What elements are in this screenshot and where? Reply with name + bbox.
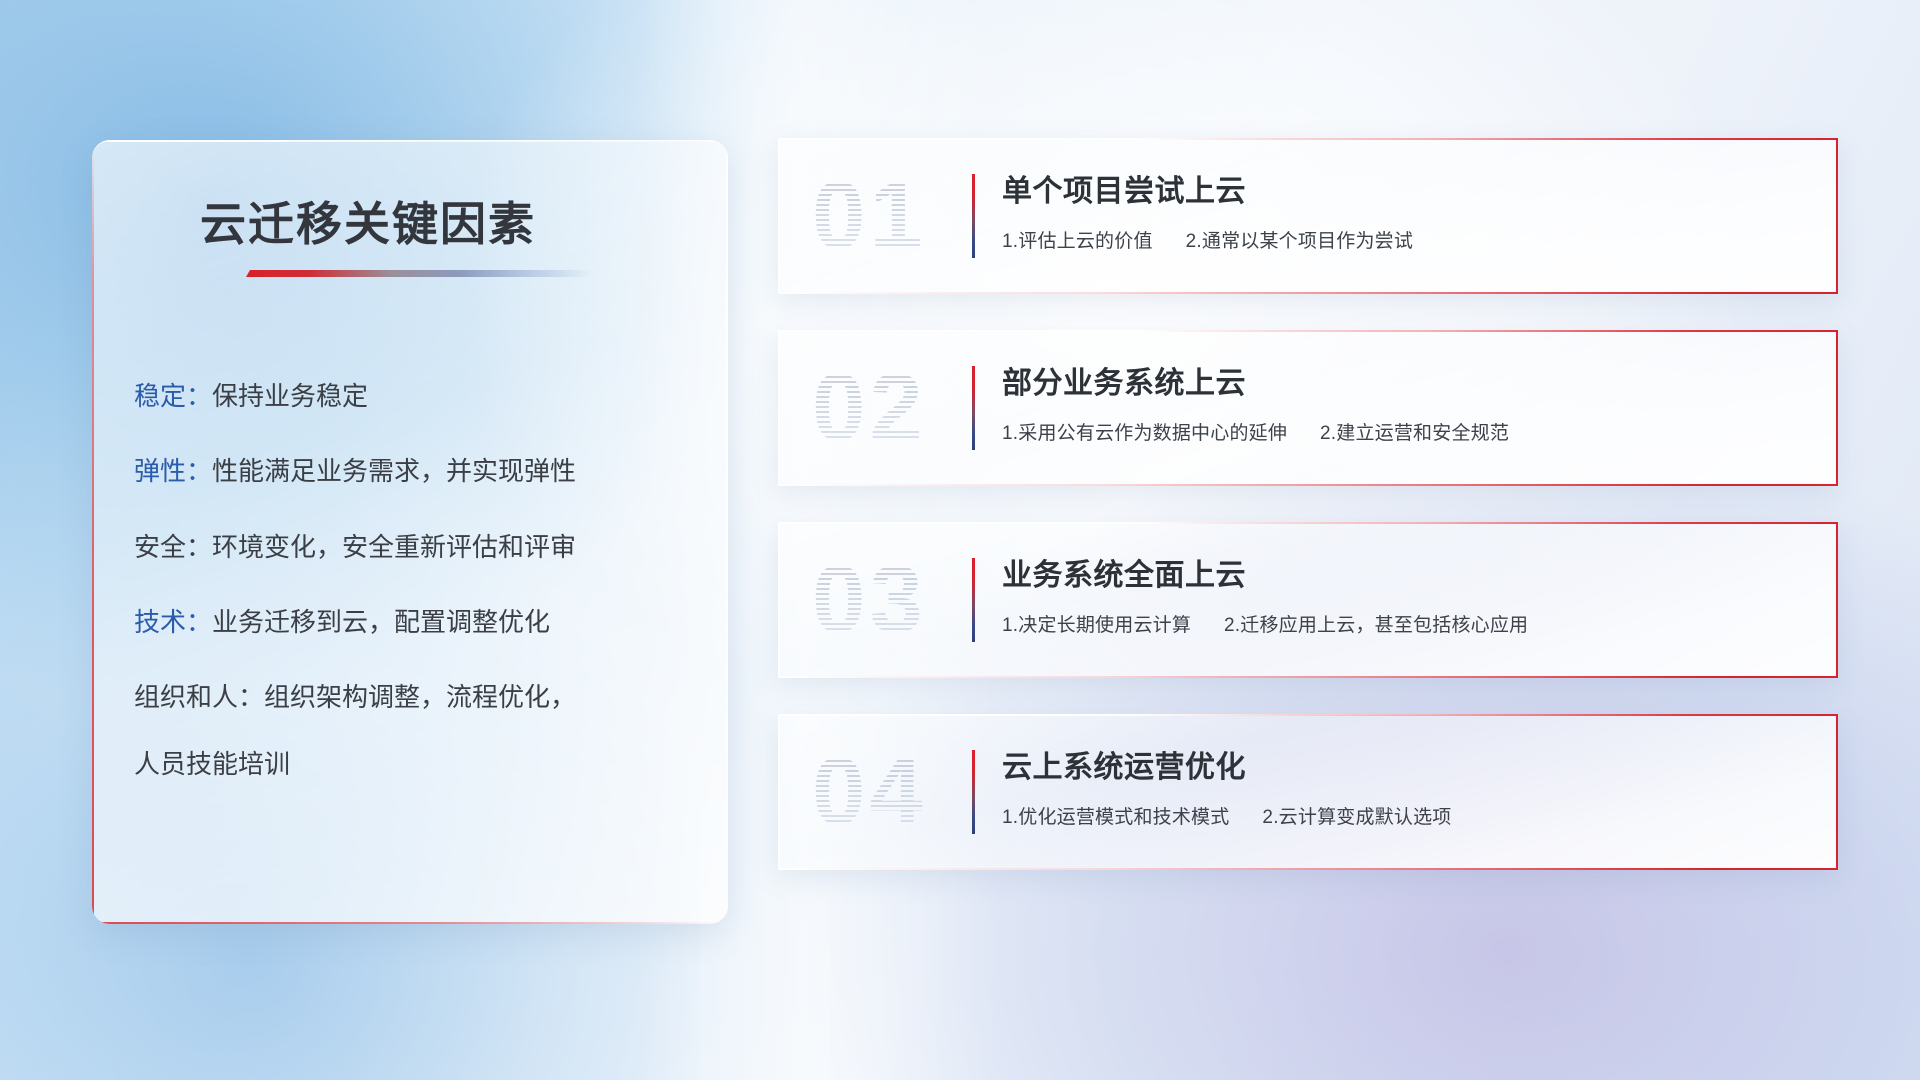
stage-title: 单个项目尝试上云 bbox=[1002, 166, 1798, 210]
stage-title: 部分业务系统上云 bbox=[1002, 358, 1798, 402]
card-top-edge bbox=[778, 522, 1838, 524]
factor-text: 性能满足业务需求，并实现弹性 bbox=[212, 455, 576, 488]
stage-point-2: 2.通常以某个项目作为尝试 bbox=[1186, 231, 1413, 252]
stage-description: 1.决定长期使用云计算 2.迁移应用上云，甚至包括核心应用 bbox=[1002, 610, 1798, 637]
factor-label: 技术： bbox=[134, 606, 212, 639]
stage-description: 1.采用公有云作为数据中心的延伸 2.建立运营和安全规范 bbox=[1002, 418, 1798, 445]
stage-number: 02 bbox=[812, 346, 982, 470]
card-left-edge bbox=[778, 714, 780, 870]
stage-point-1: 1.决定长期使用云计算 bbox=[1002, 615, 1191, 636]
card-body: 业务系统全面上云 1.决定长期使用云计算 2.迁移应用上云，甚至包括核心应用 bbox=[1002, 550, 1798, 637]
stage-number: 03 bbox=[812, 538, 982, 662]
factor-text: 保持业务稳定 bbox=[212, 380, 368, 413]
card-top-edge bbox=[778, 330, 1838, 332]
card-body: 云上系统运营优化 1.优化运营模式和技术模式 2.云计算变成默认选项 bbox=[1002, 742, 1798, 829]
card-left-edge bbox=[778, 138, 780, 294]
stage-title: 业务系统全面上云 bbox=[1002, 550, 1798, 594]
page-title: 云迁移关键因素 bbox=[200, 188, 536, 254]
card-left-edge bbox=[778, 330, 780, 486]
factor-text: 环境变化，安全重新评估和评审 bbox=[212, 531, 576, 564]
factor-text: 组织架构调整，流程优化， bbox=[264, 681, 576, 714]
factor-label: 组织和人： bbox=[134, 681, 264, 714]
card-bottom-edge bbox=[778, 484, 1838, 486]
stage-description: 1.评估上云的价值 2.通常以某个项目作为尝试 bbox=[1002, 226, 1798, 253]
factor-item-technology: 技术： 业务迁移到云，配置调整优化 bbox=[134, 606, 694, 639]
stage-card-04[interactable]: 04 云上系统运营优化 1.优化运营模式和技术模式 2.云计算变成默认选项 bbox=[778, 714, 1838, 870]
factor-continuation-text: 人员技能培训 bbox=[134, 744, 694, 781]
card-bottom-edge bbox=[778, 676, 1838, 678]
factor-label: 弹性： bbox=[134, 455, 212, 488]
title-underline-rule bbox=[246, 270, 592, 277]
stage-point-2: 2.云计算变成默认选项 bbox=[1262, 807, 1451, 828]
stage-number: 01 bbox=[812, 154, 982, 278]
card-body: 单个项目尝试上云 1.评估上云的价值 2.通常以某个项目作为尝试 bbox=[1002, 166, 1798, 253]
card-divider-bar bbox=[972, 558, 975, 642]
factor-label: 稳定： bbox=[134, 380, 212, 413]
factor-text: 业务迁移到云，配置调整优化 bbox=[212, 606, 550, 639]
stage-card-01[interactable]: 01 单个项目尝试上云 1.评估上云的价值 2.通常以某个项目作为尝试 bbox=[778, 138, 1838, 294]
panel-right-edge bbox=[726, 140, 728, 924]
card-bottom-edge bbox=[778, 868, 1838, 870]
key-factors-panel: 云迁移关键因素 稳定： 保持业务稳定 弹性： 性能满足业务需求，并实现弹性 安全… bbox=[92, 140, 728, 924]
stage-point-1: 1.采用公有云作为数据中心的延伸 bbox=[1002, 423, 1287, 444]
factor-item-security: 安全： 环境变化，安全重新评估和评审 bbox=[134, 531, 694, 564]
stage-point-2: 2.建立运营和安全规范 bbox=[1320, 423, 1509, 444]
card-right-edge bbox=[1836, 522, 1838, 678]
stage-point-1: 1.评估上云的价值 bbox=[1002, 231, 1153, 252]
stage-point-2: 2.迁移应用上云，甚至包括核心应用 bbox=[1224, 615, 1528, 636]
card-top-edge bbox=[778, 714, 1838, 716]
card-bottom-edge bbox=[778, 292, 1838, 294]
card-divider-bar bbox=[972, 750, 975, 834]
card-right-edge bbox=[1836, 714, 1838, 870]
stage-card-03[interactable]: 03 业务系统全面上云 1.决定长期使用云计算 2.迁移应用上云，甚至包括核心应… bbox=[778, 522, 1838, 678]
slide-content: 云迁移关键因素 稳定： 保持业务稳定 弹性： 性能满足业务需求，并实现弹性 安全… bbox=[0, 0, 1920, 1080]
card-right-edge bbox=[1836, 138, 1838, 294]
panel-top-edge bbox=[92, 140, 728, 142]
stage-point-1: 1.优化运营模式和技术模式 bbox=[1002, 807, 1229, 828]
factor-item-elasticity: 弹性： 性能满足业务需求，并实现弹性 bbox=[134, 455, 694, 488]
card-top-edge bbox=[778, 138, 1838, 140]
factor-list: 稳定： 保持业务稳定 弹性： 性能满足业务需求，并实现弹性 安全： 环境变化，安… bbox=[134, 380, 694, 781]
stage-number: 04 bbox=[812, 730, 982, 854]
factor-item-stability: 稳定： 保持业务稳定 bbox=[134, 380, 694, 413]
stage-description: 1.优化运营模式和技术模式 2.云计算变成默认选项 bbox=[1002, 802, 1798, 829]
card-right-edge bbox=[1836, 330, 1838, 486]
card-divider-bar bbox=[972, 174, 975, 258]
stage-card-02[interactable]: 02 部分业务系统上云 1.采用公有云作为数据中心的延伸 2.建立运营和安全规范 bbox=[778, 330, 1838, 486]
factor-label: 安全： bbox=[134, 531, 212, 564]
stage-card-list: 01 单个项目尝试上云 1.评估上云的价值 2.通常以某个项目作为尝试 02 部… bbox=[778, 138, 1838, 906]
card-left-edge bbox=[778, 522, 780, 678]
factor-item-organization: 组织和人： 组织架构调整，流程优化， bbox=[134, 681, 694, 714]
stage-title: 云上系统运营优化 bbox=[1002, 742, 1798, 786]
card-divider-bar bbox=[972, 366, 975, 450]
card-body: 部分业务系统上云 1.采用公有云作为数据中心的延伸 2.建立运营和安全规范 bbox=[1002, 358, 1798, 445]
